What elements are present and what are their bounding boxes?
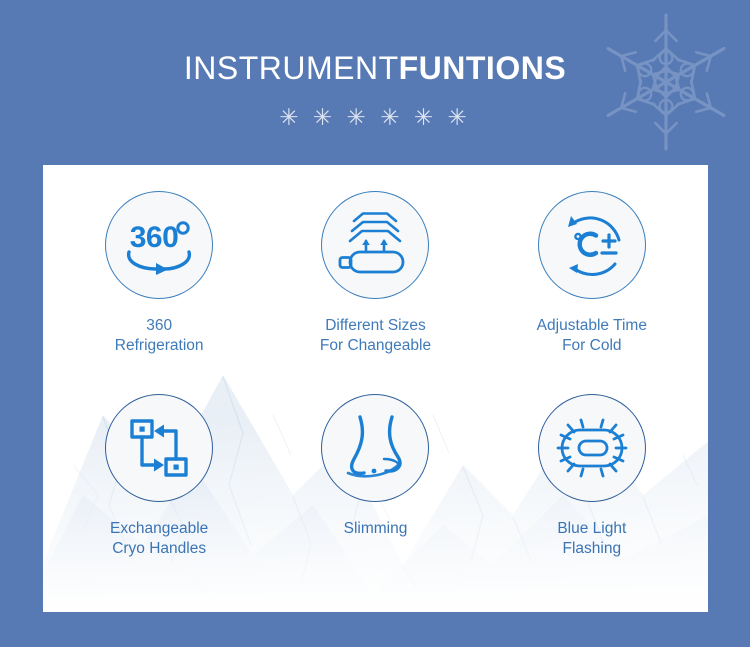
feature-label: Slimming [344,519,408,539]
page-title-bold: FUNTIONS [399,50,567,86]
360-rotation-icon: 360 [105,191,213,299]
feature-item-360-refrigeration[interactable]: 360 360 Refrigeration [51,191,267,394]
blue-light-flashing-icon [538,394,646,502]
temperature-adjust-icon [538,191,646,299]
feature-item-blue-light-flashing[interactable]: Blue Light Flashing [484,394,700,597]
feature-label: Exchangeable Cryo Handles [110,519,208,559]
svg-text:360: 360 [130,221,179,254]
feature-item-different-sizes[interactable]: Different Sizes For Changeable [267,191,483,394]
features-grid: 360 360 Refrigeration [43,165,708,612]
feature-item-exchangeable-handles[interactable]: Exchangeable Cryo Handles [51,394,267,597]
snowflake-divider: ✳ ✳ ✳ ✳ ✳ ✳ [0,102,750,132]
feature-label: Blue Light Flashing [557,519,626,559]
page-title: INSTRUMENTFUNTIONS [0,48,750,88]
feature-label: Different Sizes For Changeable [320,316,431,356]
page-header: INSTRUMENTFUNTIONS ✳ ✳ ✳ ✳ ✳ ✳ [0,0,750,165]
cryo-handle-sizes-icon [321,191,429,299]
feature-label: 360 Refrigeration [115,316,204,356]
features-card: 360 360 Refrigeration [43,165,708,612]
feature-label: Adjustable Time For Cold [537,316,647,356]
exchange-handles-icon [105,394,213,502]
feature-item-adjustable-time[interactable]: Adjustable Time For Cold [484,191,700,394]
page-title-regular: INSTRUMENT [184,50,399,86]
slimming-waist-icon [321,394,429,502]
feature-item-slimming[interactable]: Slimming [267,394,483,597]
